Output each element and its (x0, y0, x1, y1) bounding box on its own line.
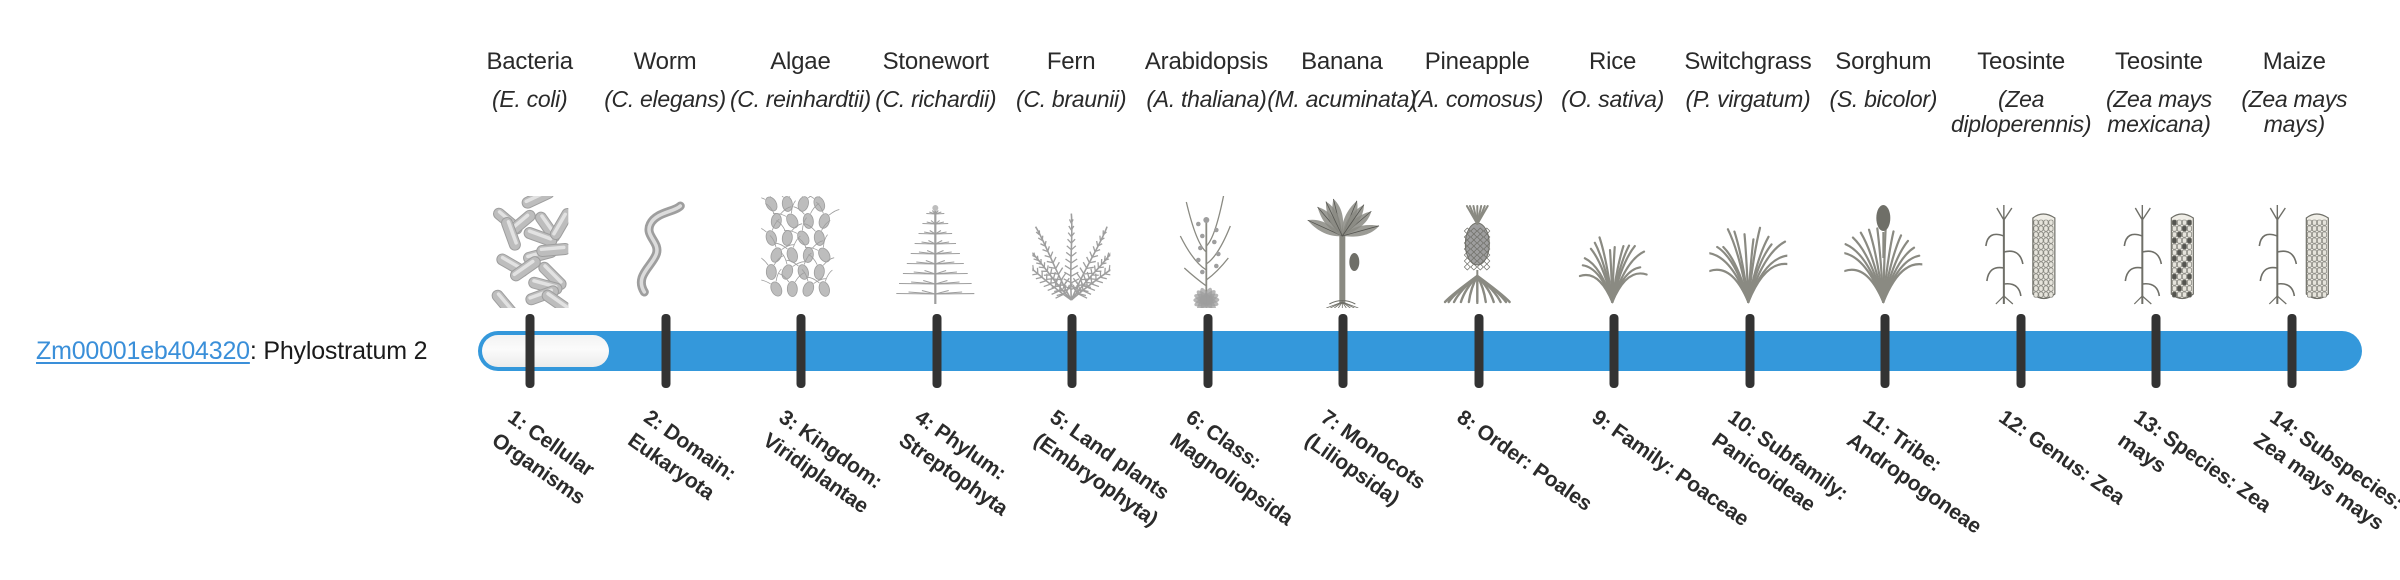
species-column-banana-6: Banana(M. acuminata) (1274, 48, 1409, 310)
species-common-name: Pineapple (1425, 48, 1530, 76)
stratum-rank: Species: (2159, 426, 2242, 493)
phylostratigraphy-figure: Zm00001eb404320: Phylostratum 2 Bacteria… (0, 0, 2400, 580)
phylostratum-tick-1[interactable] (526, 314, 535, 388)
phylostratum-tick-7[interactable] (1339, 314, 1348, 388)
phylostratum-tick-11[interactable] (1881, 314, 1890, 388)
species-column-teosinte-12: Teosinte(Zea mays mexicana) (2091, 48, 2226, 310)
species-column-worm-1: Worm(C. elegans) (597, 48, 732, 310)
phylostratum-bar-empty-segment (482, 335, 609, 367)
species-column-fern-4: Fern(C. braunii) (1003, 48, 1138, 310)
stratum-rank: Genus: (2024, 426, 2095, 486)
species-column-switchgrass-9: Switchgrass(P. virgatum) (1680, 48, 1815, 310)
phylostratum-value-text: Phylostratum 2 (263, 337, 427, 365)
switchgrass-icon (1680, 198, 1815, 308)
species-latin-name: (A. comosus) (1401, 87, 1553, 113)
phylostratum-tick-3[interactable] (797, 314, 806, 388)
phylostratum-tick-6[interactable] (1203, 314, 1212, 388)
species-column-rice-8: Rice(O. sativa) (1545, 48, 1680, 310)
phylostratum-bar-track (478, 331, 2362, 371)
species-column-arabidopsis-5: Arabidopsis(A. thaliana) (1139, 48, 1274, 310)
species-latin-name: (P. virgatum) (1672, 87, 1824, 113)
stonewort-alga-icon (868, 198, 1003, 308)
stratum-taxon: Zea (2086, 470, 2128, 509)
phylostratum-tick-4[interactable] (932, 314, 941, 388)
phylostratum-tick-10[interactable] (1745, 314, 1754, 388)
phylostratum-tick-13[interactable] (2152, 314, 2161, 388)
fern-frond-icon (1003, 198, 1138, 308)
species-common-name: Teosinte (1977, 48, 2065, 76)
phylostratum-tick-9[interactable] (1610, 314, 1619, 388)
species-common-name: Banana (1301, 48, 1383, 76)
gene-id-link[interactable]: Zm00001eb404320 (36, 337, 250, 365)
species-common-name: Worm (634, 48, 697, 76)
maize-plant-and-cob-icon (2227, 198, 2362, 308)
teosinte-plant-and-ear-icon (1951, 198, 2091, 308)
species-column-teosinte-11: Teosinte(Zea diploperennis) (1951, 48, 2091, 310)
teosinte-mexicana-plant-and-ear-icon (2091, 198, 2226, 308)
chlamydomonas-algae-icon (733, 198, 868, 308)
species-common-name: Algae (770, 48, 830, 76)
stratum-rank: Family: (1608, 419, 1680, 479)
species-latin-name: (C. richardii) (860, 87, 1012, 113)
phylostratum-tick-8[interactable] (1474, 314, 1483, 388)
phylostratum-tick-5[interactable] (1068, 314, 1077, 388)
species-common-name: Switchgrass (1684, 48, 1811, 76)
species-common-name: Maize (2263, 48, 2326, 76)
phylostratum-tick-12[interactable] (2016, 314, 2025, 388)
species-common-name: Teosinte (2115, 48, 2203, 76)
phylostratum-tick-2[interactable] (661, 314, 670, 388)
phylostratum-tick-14[interactable] (2288, 314, 2297, 388)
banana-palm-icon (1274, 198, 1409, 308)
gene-label-separator: : (250, 337, 264, 365)
rice-grass-icon (1545, 198, 1680, 308)
species-latin-name: (O. sativa) (1537, 87, 1689, 113)
species-header-row: Bacteria(E. coli)Worm(C. elegans)Algae(C… (462, 48, 2362, 310)
nematode-worm-icon (597, 198, 732, 308)
species-latin-name: (C. reinhardtii) (725, 87, 877, 113)
bacteria-rods-icon (462, 198, 597, 308)
arabidopsis-plant-icon (1139, 198, 1274, 308)
species-column-bacteria-0: Bacteria(E. coli) (462, 48, 597, 310)
species-latin-name: (Zea mays mexicana) (2083, 87, 2235, 139)
pineapple-plant-icon (1410, 198, 1545, 308)
species-column-stonewort-3: Stonewort(C. richardii) (868, 48, 1003, 310)
species-latin-name: (Zea mays mays) (2218, 87, 2370, 139)
species-column-maize-13: Maize(Zea mays mays) (2227, 48, 2362, 310)
sorghum-plant-icon (1816, 198, 1951, 308)
gene-phylostratum-label: Zm00001eb404320: Phylostratum 2 (36, 337, 427, 366)
species-common-name: Arabidopsis (1145, 48, 1268, 76)
species-column-sorghum-10: Sorghum(S. bicolor) (1816, 48, 1951, 310)
species-latin-name: (Zea diploperennis) (1943, 87, 2100, 139)
species-latin-name: (E. coli) (454, 87, 606, 113)
species-latin-name: (C. elegans) (589, 87, 741, 113)
species-latin-name: (M. acuminata) (1266, 87, 1418, 113)
stratum-taxon: Poales (1528, 459, 1596, 516)
species-column-pineapple-7: Pineapple(A. comosus) (1410, 48, 1545, 310)
species-common-name: Fern (1047, 48, 1096, 76)
species-latin-name: (A. thaliana) (1131, 87, 1283, 113)
species-latin-name: (C. braunii) (995, 87, 1147, 113)
species-common-name: Sorghum (1835, 48, 1931, 76)
species-common-name: Rice (1589, 48, 1636, 76)
species-column-algae-2: Algae(C. reinhardtii) (733, 48, 868, 310)
stratum-number: 12: (1995, 406, 2033, 442)
phylostratum-bar[interactable] (478, 331, 2362, 371)
species-latin-name: (S. bicolor) (1807, 87, 1959, 113)
species-common-name: Stonewort (883, 48, 989, 76)
stratum-rank: Order: (1472, 419, 1537, 474)
species-common-name: Bacteria (486, 48, 572, 76)
